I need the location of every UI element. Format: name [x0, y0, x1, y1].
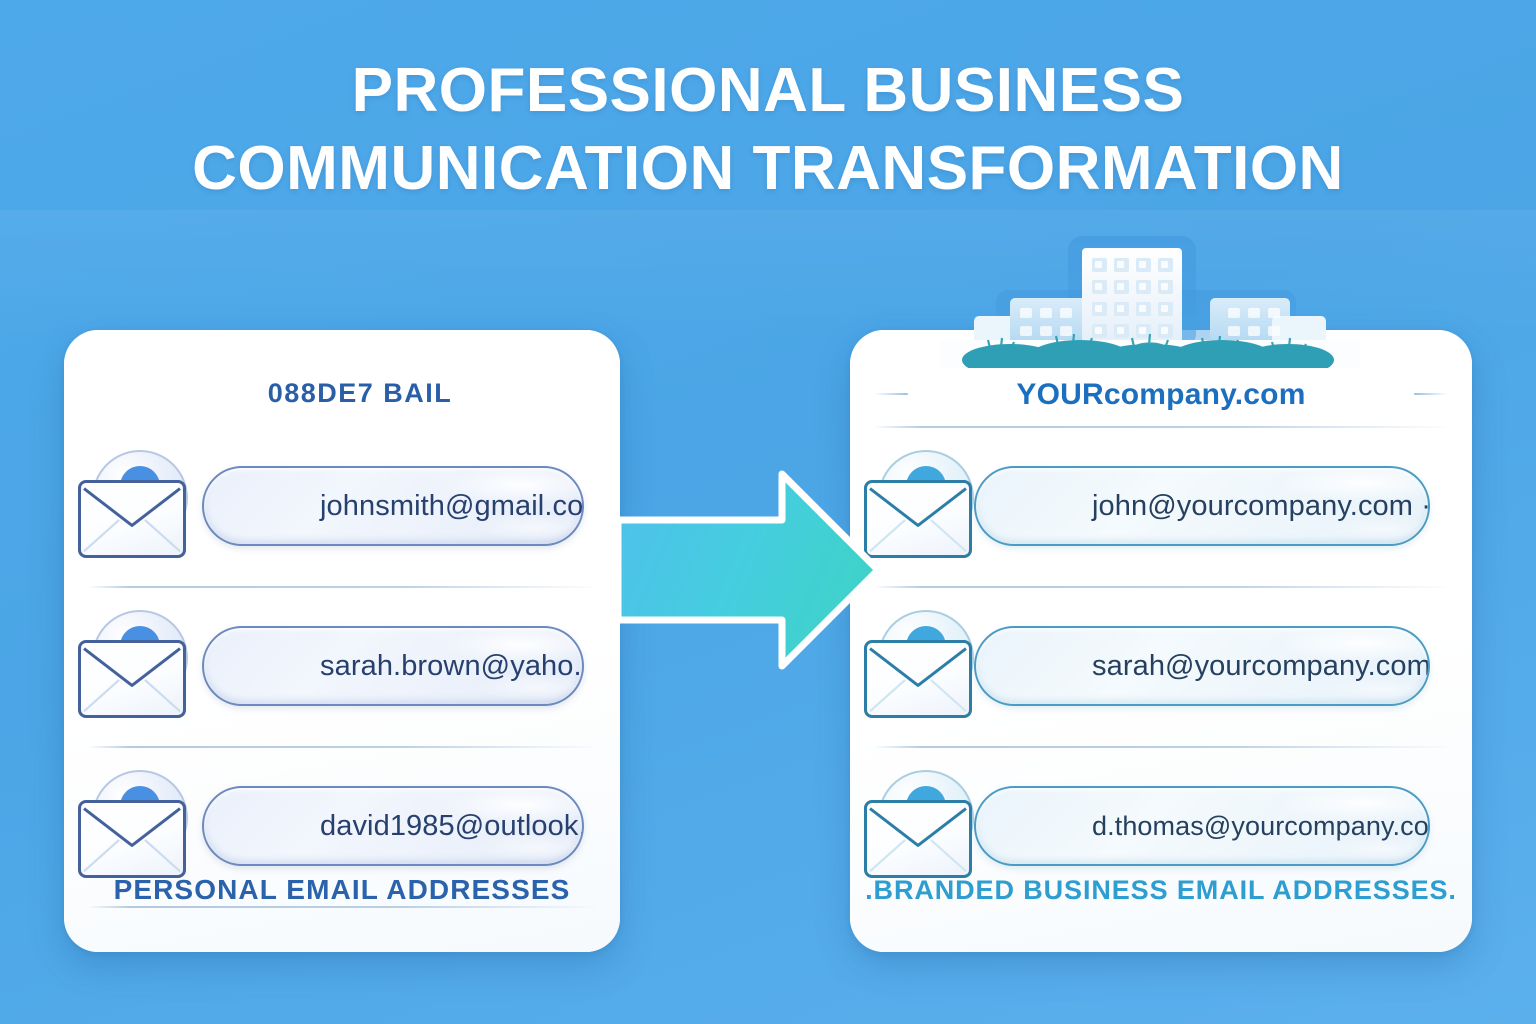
personal-email-panel: 088DE7 BAIL: [64, 330, 620, 952]
user-avatar-icon: [864, 770, 992, 882]
email-pill[interactable]: david1985@outlook.com: [202, 786, 584, 866]
branded-email-panel: YOURcompany.com: [850, 330, 1472, 952]
email-pill[interactable]: johnsmith@gmail.com: [202, 466, 584, 546]
row-divider: [90, 746, 594, 748]
heading-rule-right: [1414, 393, 1448, 395]
email-pill[interactable]: d.thomas@yourcompany.com: [974, 786, 1430, 866]
list-item[interactable]: johnsmith@gmail.com: [64, 426, 620, 586]
right-arrow-icon: [616, 452, 886, 688]
row-divider: [876, 746, 1446, 748]
list-item[interactable]: sarah.brown@yaho.com: [64, 586, 620, 746]
row-divider: [90, 586, 594, 588]
user-avatar-icon: [78, 770, 206, 882]
right-panel-heading: YOURcompany.com: [850, 378, 1472, 412]
email-address: john@yourcompany.com ·: [976, 490, 1430, 523]
email-pill[interactable]: john@yourcompany.com ·: [974, 466, 1430, 546]
page-title: PROFESSIONAL BUSINESS COMMUNICATION TRAN…: [0, 52, 1536, 208]
list-item[interactable]: john@yourcompany.com ·: [850, 426, 1472, 586]
envelope-icon: [864, 800, 972, 878]
right-email-list: john@yourcompany.com ·: [850, 426, 1472, 906]
title-line-2: COMMUNICATION TRANSFORMATION: [0, 130, 1536, 208]
title-line-1: PROFESSIONAL BUSINESS: [0, 52, 1536, 130]
email-address: david1985@outlook.com: [204, 810, 584, 843]
left-panel-heading: 088DE7 BAIL: [64, 378, 620, 409]
email-address: johnsmith@gmail.com: [204, 490, 584, 523]
email-pill[interactable]: sarah@yourcompany.com: [974, 626, 1430, 706]
row-divider: [876, 586, 1446, 588]
left-email-list: johnsmith@gmail.com: [64, 426, 620, 906]
email-address: sarah.brown@yaho.com: [204, 650, 584, 683]
row-divider: [876, 426, 1446, 428]
email-pill[interactable]: sarah.brown@yaho.com: [202, 626, 584, 706]
email-address: d.thomas@yourcompany.com: [976, 811, 1430, 842]
email-address: sarah@yourcompany.com: [976, 650, 1430, 683]
envelope-icon: [78, 640, 186, 718]
user-avatar-icon: [78, 450, 206, 562]
list-item[interactable]: sarah@yourcompany.com: [850, 586, 1472, 746]
envelope-icon: [78, 480, 186, 558]
envelope-icon: [78, 800, 186, 878]
heading-rule-left: [874, 393, 908, 395]
user-avatar-icon: [78, 610, 206, 722]
row-divider: [90, 906, 594, 908]
